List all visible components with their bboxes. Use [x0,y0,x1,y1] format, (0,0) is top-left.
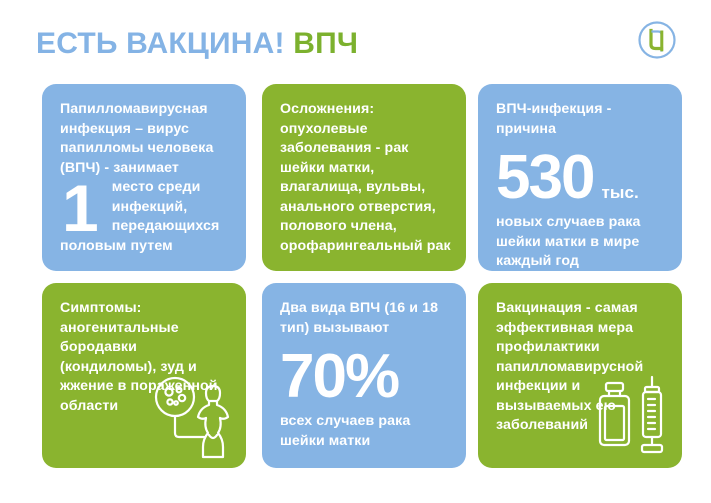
card-symptoms-lead: Симптомы: аногенитальные бородавки (конд… [60,299,232,416]
card-vaccination-lead: Вакцинация - самая эффективная мера проф… [496,299,668,436]
card-complications-lead: Осложнения: опухолевые заболевания - рак… [280,100,452,256]
card-types-70pct: Два вида ВПЧ (16 и 18 тип) вызывают 70% … [262,283,466,468]
card-types-70pct-lead: Два вида ВПЧ (16 и 18 тип) вызывают [280,299,452,338]
card-cases-530k: ВПЧ-инфекция - причина 530 тыс. новых сл… [478,84,682,271]
card-complications: Осложнения: опухолевые заболевания - рак… [262,84,466,271]
page-title: ЕСТЬ ВАКЦИНА! ВПЧ [36,25,358,63]
card-cases-530k-unit: тыс. [601,183,638,203]
header: ЕСТЬ ВАКЦИНА! ВПЧ [0,0,711,84]
card-cases-530k-lead: ВПЧ-инфекция - причина [496,100,668,139]
card-hpv-definition: Папилломавирусная инфекция – вирус папил… [42,84,246,271]
card-cases-530k-number: 530 [496,149,593,207]
card-hpv-definition-lead: Папилломавирусная инфекция – вирус папил… [60,100,232,178]
card-types-70pct-stat: 70% [280,348,452,406]
card-types-70pct-number: 70% [280,348,398,406]
clinic-logo-icon [637,20,677,60]
page-title-highlight: ВПЧ [293,27,358,60]
card-cases-530k-tail: новых случаев рака шейки матки в мире ка… [496,213,668,271]
card-vaccination: Вакцинация - самая эффективная мера проф… [478,283,682,468]
page-title-primary: ЕСТЬ ВАКЦИНА! [36,27,285,60]
card-cases-530k-stat: 530 тыс. [496,149,668,207]
card-hpv-definition-big-number: 1 [62,180,98,236]
card-types-70pct-tail: всех случаев рака шейки матки [280,412,452,451]
card-symptoms: Симптомы: аногенитальные бородавки (конд… [42,283,246,468]
